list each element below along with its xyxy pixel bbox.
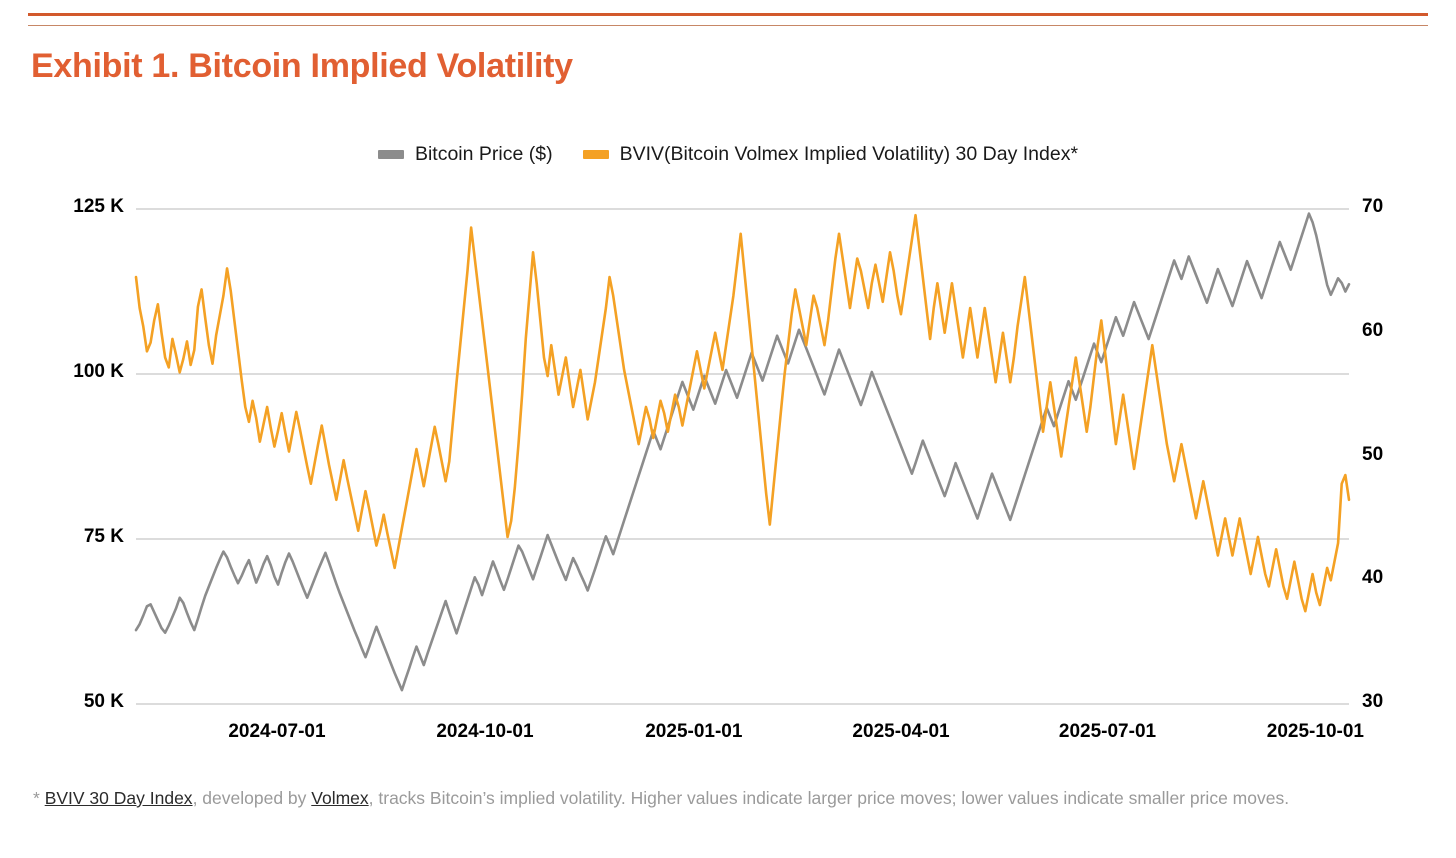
- y-tick-left: 50 K: [84, 691, 124, 713]
- chart-plot-area: 125 K100 K75 K50 K 7060504030 2024-07-01…: [0, 0, 1456, 858]
- chart-series-layer: [136, 214, 1349, 691]
- series-line-bviv-index: [136, 215, 1349, 611]
- y-tick-right: 30: [1362, 691, 1383, 713]
- footnote-mid-text: , developed by: [193, 788, 312, 808]
- y-tick-right: 50: [1362, 444, 1383, 466]
- x-tick: 2024-10-01: [436, 721, 533, 743]
- x-tick: 2024-07-01: [228, 721, 325, 743]
- footnote-link-volmex[interactable]: Volmex: [311, 788, 368, 808]
- y-tick-left: 75 K: [84, 526, 124, 548]
- footnote-marker: *: [33, 788, 45, 808]
- chart-footnote: * BVIV 30 Day Index, developed by Volmex…: [33, 785, 1333, 812]
- x-tick: 2025-10-01: [1267, 721, 1364, 743]
- x-tick: 2025-07-01: [1059, 721, 1156, 743]
- footnote-tail-text: , tracks Bitcoin’s implied volatility. H…: [369, 788, 1289, 808]
- y-tick-right: 60: [1362, 320, 1383, 342]
- x-tick: 2025-01-01: [645, 721, 742, 743]
- y-tick-left: 100 K: [73, 361, 124, 383]
- footnote-link-bviv[interactable]: BVIV 30 Day Index: [45, 788, 193, 808]
- y-tick-right: 70: [1362, 196, 1383, 218]
- y-tick-right: 40: [1362, 567, 1383, 589]
- x-tick: 2025-04-01: [852, 721, 949, 743]
- y-tick-left: 125 K: [73, 196, 124, 218]
